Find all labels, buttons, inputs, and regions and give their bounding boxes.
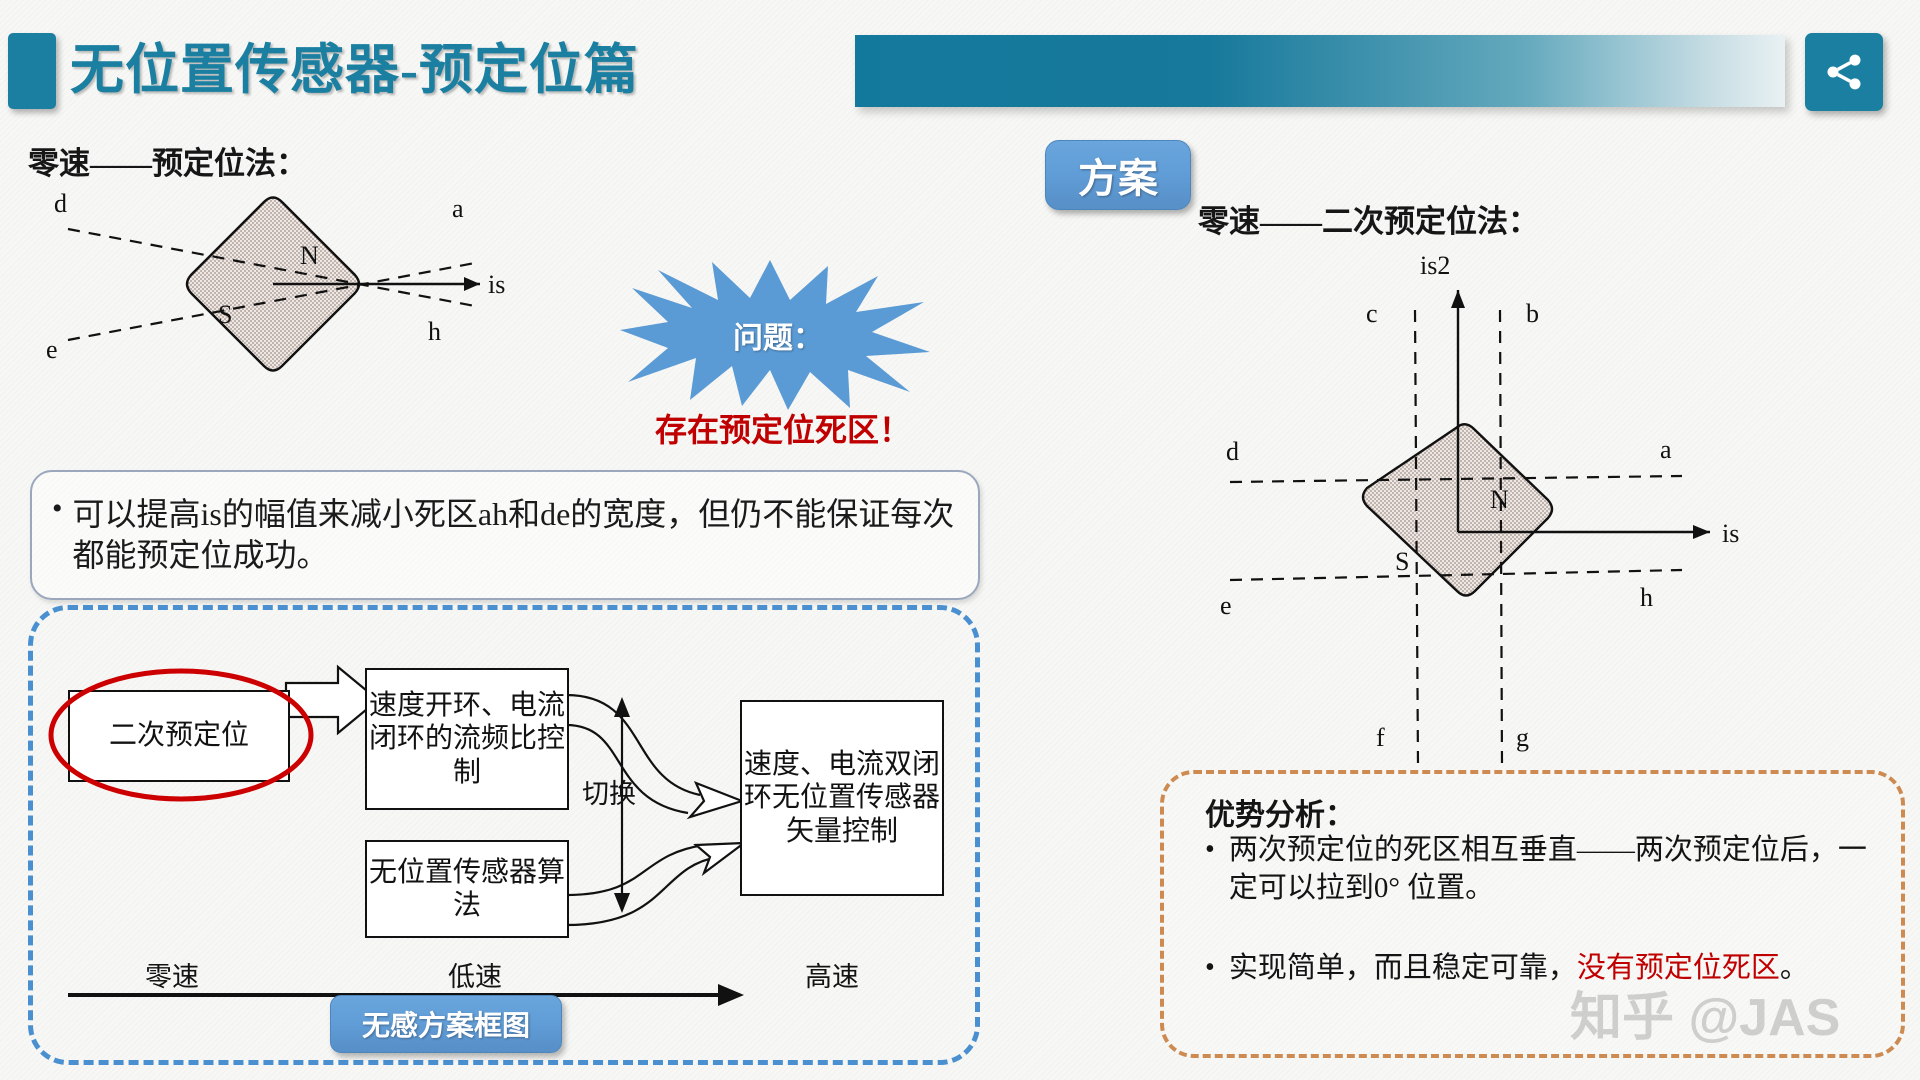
- watermark: 知乎 @JAS: [1570, 975, 1840, 1050]
- flow-box-sensorless-algorithm[interactable]: 无位置传感器算法: [365, 840, 569, 938]
- problem-burst: 问题：: [620, 260, 930, 410]
- svg-text:e: e: [1220, 591, 1232, 620]
- secondary-prepositioning-diagram: N S is2 c b d a e h f g is: [1190, 250, 1810, 770]
- prepositioning-diagram: N S d a e h is: [10, 180, 630, 410]
- note-text: 可以提高is的幅值来减小死区ah和de的宽度，但仍不能保证每次都能预定位成功。: [73, 494, 978, 576]
- note-bullet: •: [52, 472, 63, 524]
- svg-text:h: h: [1640, 583, 1653, 612]
- title-accent-square: [8, 33, 56, 109]
- note-box: • 可以提高is的幅值来减小死区ah和de的宽度，但仍不能保证每次都能预定位成功…: [30, 470, 980, 600]
- svg-text:e: e: [46, 335, 58, 364]
- advantage-title: 优势分析：: [1205, 790, 1355, 834]
- svg-text:is2: is2: [1420, 251, 1450, 280]
- svg-text:f: f: [1376, 723, 1385, 752]
- share-button[interactable]: [1805, 33, 1883, 111]
- svg-text:N: N: [1490, 485, 1509, 514]
- red-highlight-ellipse: [46, 665, 316, 805]
- svg-text:g: g: [1516, 723, 1529, 752]
- svg-text:is: is: [488, 270, 505, 299]
- svg-text:is: is: [1722, 519, 1739, 548]
- problem-burst-label: 问题：: [620, 260, 930, 410]
- svg-text:a: a: [452, 194, 464, 223]
- advantage-item-1: • 两次预定位的死区相互垂直——两次预定位后，一定可以拉到0° 位置。: [1205, 832, 1875, 907]
- switch-label: 切换: [582, 772, 636, 811]
- flow-box-vector-control[interactable]: 速度、电流双闭环无位置传感器矢量控制: [740, 700, 944, 896]
- advantage-bullet: •: [1205, 950, 1215, 988]
- flow-diagram-caption: 无感方案框图: [330, 995, 562, 1053]
- flow-box-open-loop[interactable]: 速度开环、电流闭环的流频比控制: [365, 668, 569, 810]
- svg-text:S: S: [218, 300, 232, 329]
- speed-label-zero: 零速: [145, 955, 199, 994]
- right-section-heading: 零速——二次预定位法：: [1198, 196, 1539, 241]
- plan-badge: 方案: [1045, 140, 1191, 210]
- header-gradient-bar: [855, 35, 1785, 107]
- svg-text:N: N: [300, 241, 319, 270]
- svg-text:d: d: [54, 189, 67, 218]
- svg-text:S: S: [1395, 547, 1409, 576]
- svg-text:c: c: [1366, 299, 1378, 328]
- svg-text:b: b: [1526, 299, 1539, 328]
- advantage-bullet: •: [1205, 832, 1215, 907]
- page-title: 无位置传感器-预定位篇: [70, 30, 830, 110]
- speed-label-low: 低速: [448, 955, 502, 994]
- svg-text:d: d: [1226, 437, 1239, 466]
- speed-label-high: 高速: [805, 955, 859, 994]
- deadzone-warning-text: 存在预定位死区！: [655, 405, 955, 451]
- svg-text:a: a: [1660, 435, 1672, 464]
- share-icon: [1822, 50, 1866, 94]
- svg-text:h: h: [428, 317, 441, 346]
- left-section-heading: 零速——预定位法：: [28, 138, 307, 183]
- advantage-text-black: 实现简单，而且稳定可靠，: [1229, 952, 1577, 984]
- advantage-text: 两次预定位的死区相互垂直——两次预定位后，一定可以拉到0° 位置。: [1229, 832, 1875, 907]
